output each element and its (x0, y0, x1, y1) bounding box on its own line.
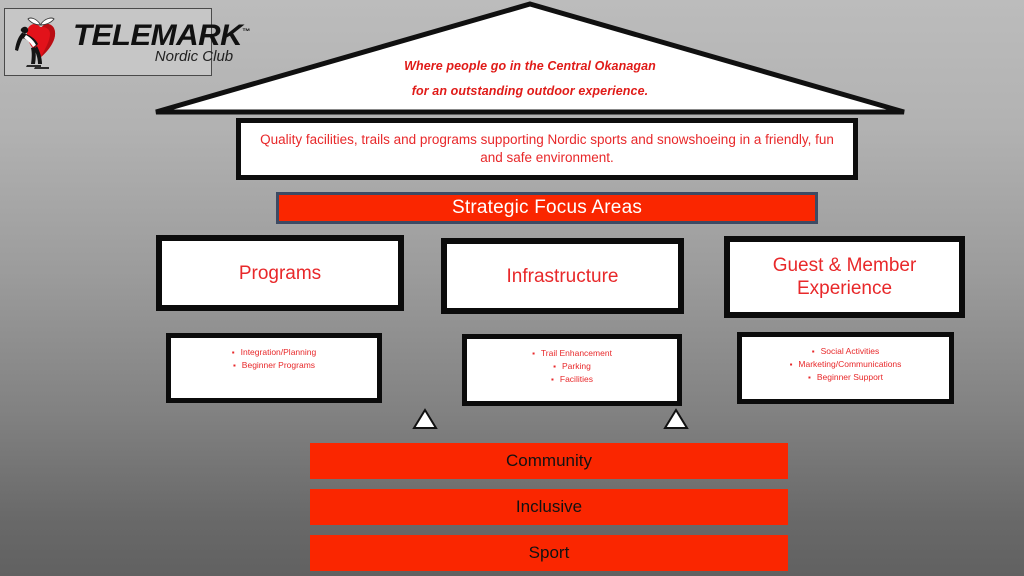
vision-statement: Where people go in the Central Okanagan … (150, 54, 910, 104)
list-item: ▪Facilities (467, 373, 677, 386)
foundation-bar-label: Community (506, 451, 592, 471)
list-item: ▪Social Activities (742, 345, 949, 358)
list-item-label: Integration/Planning (241, 347, 317, 357)
pillar-label: Programs (239, 262, 321, 285)
vision-line-1: Where people go in the Central Okanagan (150, 54, 910, 79)
bullets-box-guest-member-experience: ▪Social Activities ▪Marketing/Communicat… (737, 332, 954, 404)
bullets-box-infrastructure: ▪Trail Enhancement ▪Parking ▪Facilities (462, 334, 682, 406)
list-item: ▪Beginner Support (742, 371, 949, 384)
list-item: ▪Beginner Programs (171, 359, 377, 372)
pillar-box-guest-member-experience: Guest & Member Experience (724, 236, 965, 318)
foundation-bar-sport: Sport (310, 535, 788, 571)
foundation-bar-inclusive: Inclusive (310, 489, 788, 525)
bullet-dot-icon: ▪ (233, 359, 236, 372)
pillar-box-programs: Programs (156, 235, 404, 311)
bullet-dot-icon: ▪ (551, 373, 554, 386)
list-item-label: Marketing/Communications (798, 359, 901, 369)
bullet-dot-icon: ▪ (232, 346, 235, 359)
list-item-label: Social Activities (821, 346, 880, 356)
bullet-dot-icon: ▪ (812, 345, 815, 358)
list-item: ▪Parking (467, 360, 677, 373)
skier-apple-icon (9, 11, 71, 73)
bullet-list: ▪Trail Enhancement ▪Parking ▪Facilities (467, 347, 677, 386)
strategic-plan-slide: TELEMARK™ Nordic Club Where people go in… (0, 0, 1024, 576)
triangle-marker-left-icon (412, 408, 438, 430)
foundation-bar-community: Community (310, 443, 788, 479)
pillar-label: Infrastructure (507, 265, 619, 288)
vision-line-2: for an outstanding outdoor experience. (150, 79, 910, 104)
triangle-marker-right-icon (663, 408, 689, 430)
bullet-dot-icon: ▪ (553, 360, 556, 373)
list-item: ▪Marketing/Communications (742, 358, 949, 371)
list-item: ▪Trail Enhancement (467, 347, 677, 360)
list-item-label: Beginner Support (817, 372, 883, 382)
list-item-label: Beginner Programs (242, 360, 315, 370)
foundation-bar-label: Sport (529, 543, 570, 563)
strategic-focus-areas-label: Strategic Focus Areas (452, 197, 642, 219)
list-item-label: Parking (562, 361, 591, 371)
foundation-bar-label: Inclusive (516, 497, 582, 517)
bullets-box-programs: ▪Integration/Planning ▪Beginner Programs (166, 333, 382, 403)
bullet-list: ▪Social Activities ▪Marketing/Communicat… (742, 345, 949, 384)
pillar-box-infrastructure: Infrastructure (441, 238, 684, 314)
strategic-focus-areas-bar: Strategic Focus Areas (276, 192, 818, 224)
mission-statement-text: Quality facilities, trails and programs … (241, 131, 853, 167)
list-item-label: Trail Enhancement (541, 348, 612, 358)
pillar-label: Guest & Member Experience (730, 254, 959, 300)
bullet-list: ▪Integration/Planning ▪Beginner Programs (171, 346, 377, 372)
bullet-dot-icon: ▪ (808, 371, 811, 384)
list-item-label: Facilities (560, 374, 593, 384)
bullet-dot-icon: ▪ (532, 347, 535, 360)
bullet-dot-icon: ▪ (790, 358, 793, 371)
mission-statement-box: Quality facilities, trails and programs … (236, 118, 858, 180)
list-item: ▪Integration/Planning (171, 346, 377, 359)
